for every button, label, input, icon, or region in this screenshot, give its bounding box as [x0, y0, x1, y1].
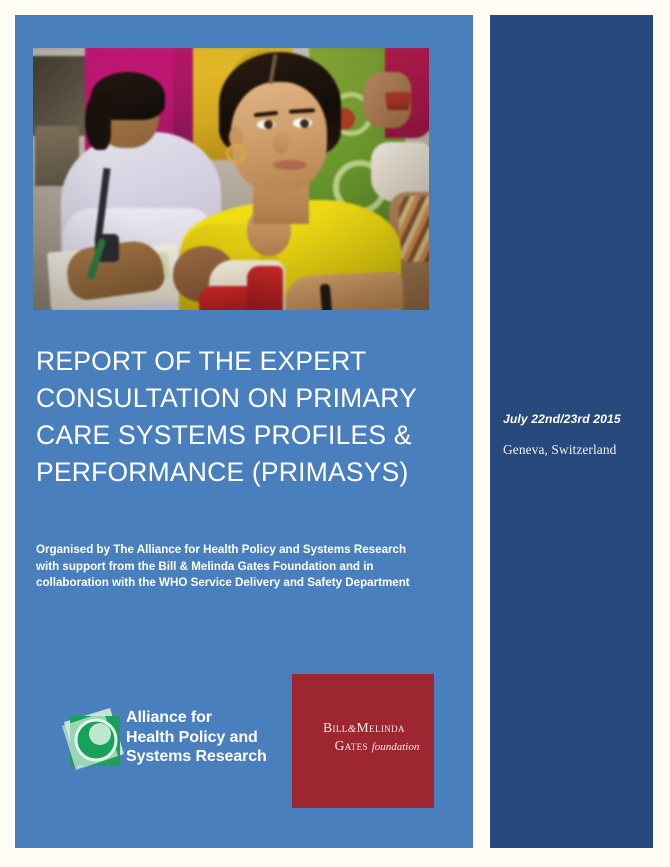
cover-photo	[33, 48, 429, 310]
gates-ampersand: &	[348, 723, 357, 735]
gates-foundation-word: foundation	[372, 741, 420, 753]
gates-line-2: Gates foundation	[292, 737, 434, 756]
title-line-4: PERFORMANCE (PRIMASYS)	[36, 454, 436, 491]
report-title: REPORT OF THE EXPERT CONSULTATION ON PRI…	[36, 343, 436, 491]
alliance-line-2: Health Policy and	[126, 728, 267, 748]
title-line-1: REPORT OF THE EXPERT	[36, 343, 436, 380]
event-date: July 22nd/23rd 2015	[503, 412, 653, 426]
event-location: Geneva, Switzerland	[503, 442, 653, 458]
title-line-2: CONSULTATION ON PRIMARY	[36, 380, 436, 417]
gates-bill: Bill	[323, 720, 348, 735]
alliance-line-1: Alliance for	[126, 708, 267, 728]
right-dark-blue-panel	[490, 15, 653, 848]
alliance-emblem-icon	[60, 702, 132, 782]
report-cover-page: REPORT OF THE EXPERT CONSULTATION ON PRI…	[0, 0, 670, 867]
title-line-3: CARE SYSTEMS PROFILES &	[36, 417, 436, 454]
alliance-logo-text: Alliance for Health Policy and Systems R…	[126, 708, 267, 767]
alliance-line-3: Systems Research	[126, 747, 267, 767]
gates-logo-text: Bill&Melinda Gates foundation	[292, 720, 434, 756]
gates-line-1: Bill&Melinda	[292, 720, 434, 737]
gates-foundation-logo: Bill&Melinda Gates foundation	[292, 674, 434, 808]
gates-gates: Gates	[335, 738, 368, 753]
gates-melinda: Melinda	[357, 720, 405, 735]
alliance-logo: Alliance for Health Policy and Systems R…	[60, 700, 260, 784]
organiser-statement: Organised by The Alliance for Health Pol…	[36, 542, 432, 592]
